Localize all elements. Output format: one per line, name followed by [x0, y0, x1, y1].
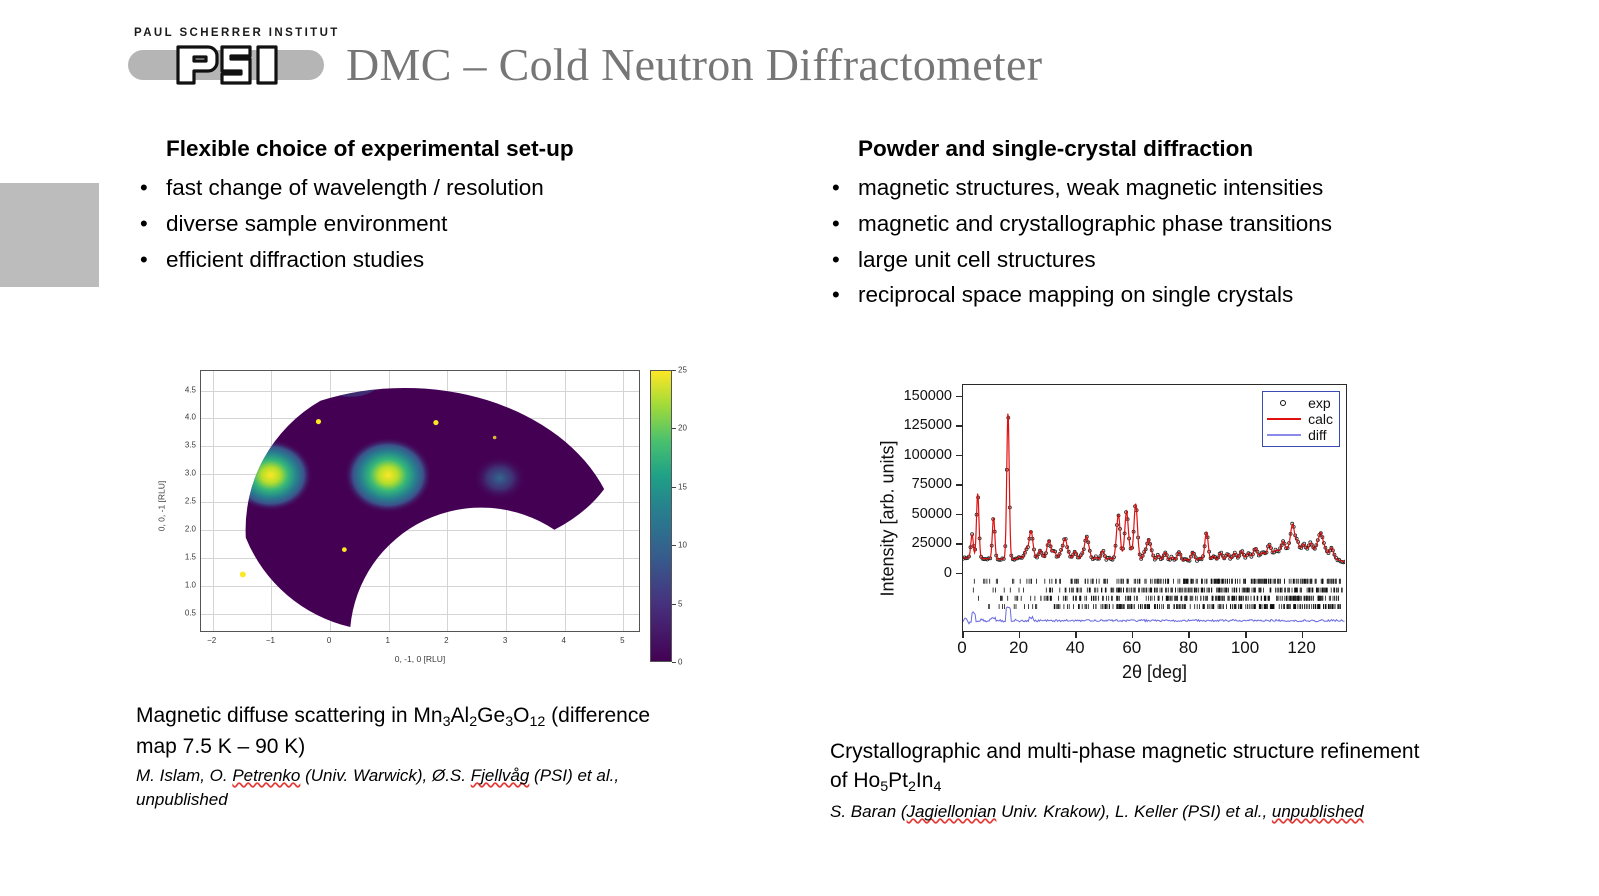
rietveld-y-tick-mark — [956, 425, 962, 427]
rietveld-x-tick-mark — [1075, 632, 1077, 638]
rietveld-y-tick: 0 — [944, 565, 952, 581]
list-item-label: efficient diffraction studies — [166, 246, 424, 275]
map-y-tick: 1.5 — [185, 552, 196, 561]
bullet-icon: • — [832, 210, 858, 238]
rietveld-x-tick-mark — [1245, 632, 1247, 638]
rietveld-y-tick: 125000 — [904, 417, 952, 433]
map-y-tick: 2.0 — [185, 524, 196, 533]
caption-text: Crystallographic and multi-phase magneti… — [830, 740, 1419, 763]
caption-right: Crystallographic and multi-phase magneti… — [830, 738, 1540, 824]
subscript: 4 — [933, 779, 941, 795]
rietveld-y-tick-mark — [956, 396, 962, 398]
colorbar-tick-label: 5 — [678, 599, 682, 608]
map-x-tick-labels: −2−1012345 — [200, 636, 640, 650]
subscript: 12 — [529, 714, 545, 730]
rietveld-y-tick-mark — [956, 573, 962, 575]
rietveld-x-tick-mark — [1019, 632, 1021, 638]
map-x-tick: 0 — [327, 636, 331, 645]
legend-line-blue-icon — [1267, 429, 1301, 441]
colorbar-tick-mark — [672, 370, 676, 371]
psi-logo: PAUL SCHERRER INSTITUT — [128, 27, 328, 97]
psi-logo-wordmark: PAUL SCHERRER INSTITUT — [134, 27, 326, 39]
legend-entry-diff: diff — [1267, 427, 1333, 443]
colorbar-tick-label: 20 — [678, 424, 687, 433]
legend-marker-circle-icon — [1267, 397, 1301, 409]
misspelled-word: unpublished — [1272, 802, 1364, 821]
colorbar-tick-label: 0 — [678, 658, 682, 667]
credit-text: M. Islam, O. — [136, 766, 232, 785]
caption-text: O — [513, 704, 529, 727]
caption-left: Magnetic diffuse scattering in Mn3Al2Ge3… — [136, 702, 756, 812]
bullet-icon: • — [832, 281, 858, 309]
map-x-tick: 3 — [503, 636, 507, 645]
caption-text: Al — [451, 704, 470, 727]
colorbar-tick-label: 15 — [678, 482, 687, 491]
map-y-tick: 3.5 — [185, 441, 196, 450]
map-y-tick: 3.0 — [185, 469, 196, 478]
credit-text: (PSI) et al., — [529, 766, 619, 785]
subscript: 5 — [880, 779, 888, 795]
credit-text: (Univ. Warwick), Ø.S. — [300, 766, 470, 785]
rietveld-x-tick: 60 — [1122, 638, 1141, 658]
colorbar-tick-mark — [672, 545, 676, 546]
map-y-tick: 2.5 — [185, 497, 196, 506]
subscript: 2 — [908, 779, 916, 795]
rietveld-x-tick-mark — [962, 632, 964, 638]
rietveld-y-tick-mark — [956, 455, 962, 457]
caption-text: In — [916, 769, 934, 792]
map-x-tick: −1 — [266, 636, 275, 645]
caption-text: (difference — [545, 704, 650, 727]
list-item: • reciprocal space mapping on single cry… — [832, 281, 1532, 310]
list-item-label: magnetic structures, weak magnetic inten… — [858, 174, 1323, 203]
list-item: • large unit cell structures — [832, 246, 1532, 275]
map-x-tick: 5 — [620, 636, 624, 645]
legend-label: exp — [1308, 395, 1331, 411]
rietveld-y-tick: 25000 — [912, 535, 952, 551]
misspelled-word: Fjellvåg — [471, 766, 530, 785]
map-y-tick-labels: 0.51.01.52.02.53.03.54.04.5 — [160, 370, 196, 632]
rietveld-y-tick-labels: 0250005000075000100000125000150000 — [862, 384, 962, 629]
bragg-spot — [342, 547, 347, 552]
map-x-tick: −2 — [207, 636, 216, 645]
subscript: 3 — [505, 714, 513, 730]
rietveld-x-tick: 40 — [1066, 638, 1085, 658]
legend-label: calc — [1308, 411, 1333, 427]
list-item-label: large unit cell structures — [858, 246, 1096, 275]
column-left-heading: Flexible choice of experimental set-up — [166, 135, 800, 162]
caption-text: Pt — [888, 769, 908, 792]
list-item: • efficient diffraction studies — [140, 246, 800, 275]
bragg-spot — [493, 436, 497, 440]
content-column-right: Powder and single-crystal diffraction • … — [832, 135, 1532, 317]
rietveld-y-tick: 150000 — [904, 388, 952, 404]
map-y-tick: 0.5 — [185, 608, 196, 617]
caption-text: map 7.5 K – 90 K) — [136, 735, 305, 758]
map-x-axis-label: 0, -1, 0 [RLU] — [200, 654, 640, 664]
decorative-accent-block — [0, 183, 99, 287]
map-plot-area — [200, 370, 640, 632]
caption-right-credit: S. Baran (Jagiellonian Univ. Krakow), L.… — [830, 800, 1540, 824]
misspelled-word: Petrenko — [232, 766, 300, 785]
rietveld-x-tick-mark — [1302, 632, 1304, 638]
caption-text: Ge — [477, 704, 505, 727]
rietveld-x-tick: 0 — [957, 638, 966, 658]
legend-entry-calc: calc — [1267, 411, 1333, 427]
rietveld-x-axis-label: 2θ [deg] — [962, 662, 1347, 683]
list-item-label: diverse sample environment — [166, 210, 447, 239]
colorbar-tick-label: 25 — [678, 366, 687, 375]
list-item-label: fast change of wavelength / resolution — [166, 174, 544, 203]
rietveld-x-tick: 120 — [1287, 638, 1315, 658]
rietveld-y-tick-mark — [956, 484, 962, 486]
misspelled-word: Jagiellonian — [907, 802, 997, 821]
map-y-tick: 4.5 — [185, 385, 196, 394]
map-x-tick: 4 — [561, 636, 565, 645]
map-y-tick: 1.0 — [185, 580, 196, 589]
credit-text: unpublished — [136, 790, 228, 809]
list-item: • magnetic and crystallographic phase tr… — [832, 210, 1532, 239]
figure-rietveld-refinement: Intensity [arb. units] 02500050000750001… — [862, 362, 1402, 692]
legend-label: diff — [1308, 427, 1326, 443]
bullet-icon: • — [140, 246, 166, 274]
rietveld-legend: exp calc diff — [1262, 391, 1340, 447]
list-item: • fast change of wavelength / resolution — [140, 174, 800, 203]
list-item: • magnetic structures, weak magnetic int… — [832, 174, 1532, 203]
colorbar-tick-mark — [672, 487, 676, 488]
bragg-spot — [433, 420, 438, 425]
series-diff-line — [963, 607, 1345, 624]
rietveld-y-tick-mark — [956, 514, 962, 516]
colorbar-tick-mark — [672, 428, 676, 429]
colorbar-tick-mark — [672, 604, 676, 605]
map-x-tick: 1 — [385, 636, 389, 645]
credit-text: Univ. Krakow), L. Keller (PSI) et al., — [996, 802, 1272, 821]
legend-entry-exp: exp — [1267, 395, 1333, 411]
caption-left-text: Magnetic diffuse scattering in Mn3Al2Ge3… — [136, 702, 756, 762]
legend-line-red-icon — [1267, 413, 1301, 425]
subscript: 3 — [443, 714, 451, 730]
rietveld-plot-area: exp calc diff — [962, 384, 1347, 632]
list-item-label: reciprocal space mapping on single cryst… — [858, 281, 1293, 310]
rietveld-y-tick: 50000 — [912, 506, 952, 522]
colorbar-tick-label: 10 — [678, 541, 687, 550]
bullet-icon: • — [832, 174, 858, 202]
caption-text: of Ho — [830, 769, 880, 792]
page-title: DMC – Cold Neutron Diffractometer — [346, 38, 1042, 91]
column-right-heading: Powder and single-crystal diffraction — [858, 135, 1532, 162]
rietveld-x-tick: 100 — [1231, 638, 1259, 658]
caption-left-credit: M. Islam, O. Petrenko (Univ. Warwick), Ø… — [136, 764, 756, 812]
rietveld-x-tick: 20 — [1009, 638, 1028, 658]
subscript: 2 — [469, 714, 477, 730]
rietveld-x-tick: 80 — [1179, 638, 1198, 658]
credit-text: S. Baran ( — [830, 802, 907, 821]
rietveld-y-tick-mark — [956, 543, 962, 545]
caption-right-text: Crystallographic and multi-phase magneti… — [830, 738, 1540, 798]
content-column-left: Flexible choice of experimental set-up •… — [140, 135, 800, 281]
bragg-spot — [316, 419, 321, 424]
bragg-spot — [240, 571, 246, 577]
map-x-tick: 2 — [444, 636, 448, 645]
list-item: • diverse sample environment — [140, 210, 800, 239]
bragg-marker-rows — [973, 579, 1342, 609]
rietveld-x-tick-mark — [1132, 632, 1134, 638]
slide-header: PAUL SCHERRER INSTITUT DMC – Cold Neutro… — [0, 0, 1599, 120]
psi-logo-glyph — [174, 41, 280, 89]
bullet-icon: • — [140, 174, 166, 202]
psi-logo-mark — [174, 41, 280, 89]
colorbar-tick-mark — [672, 662, 676, 663]
rietveld-y-tick: 75000 — [912, 476, 952, 492]
map-intensity-image — [201, 371, 639, 631]
map-colorbar: 0510152025 — [650, 370, 700, 662]
map-colorbar-gradient — [650, 370, 672, 662]
list-item-label: magnetic and crystallographic phase tran… — [858, 210, 1332, 239]
rietveld-x-tick-mark — [1188, 632, 1190, 638]
rietveld-x-tick-labels: 020406080100120 — [962, 638, 1344, 660]
figure-reciprocal-space-map: 0, 0, -1 [RLU] 0.51.01.52.02.53.03.54.04… — [160, 362, 705, 682]
bullet-icon: • — [140, 210, 166, 238]
rietveld-y-tick: 100000 — [904, 447, 952, 463]
map-y-tick: 4.0 — [185, 413, 196, 422]
bullet-icon: • — [832, 246, 858, 274]
caption-text: Magnetic diffuse scattering in Mn — [136, 704, 443, 727]
